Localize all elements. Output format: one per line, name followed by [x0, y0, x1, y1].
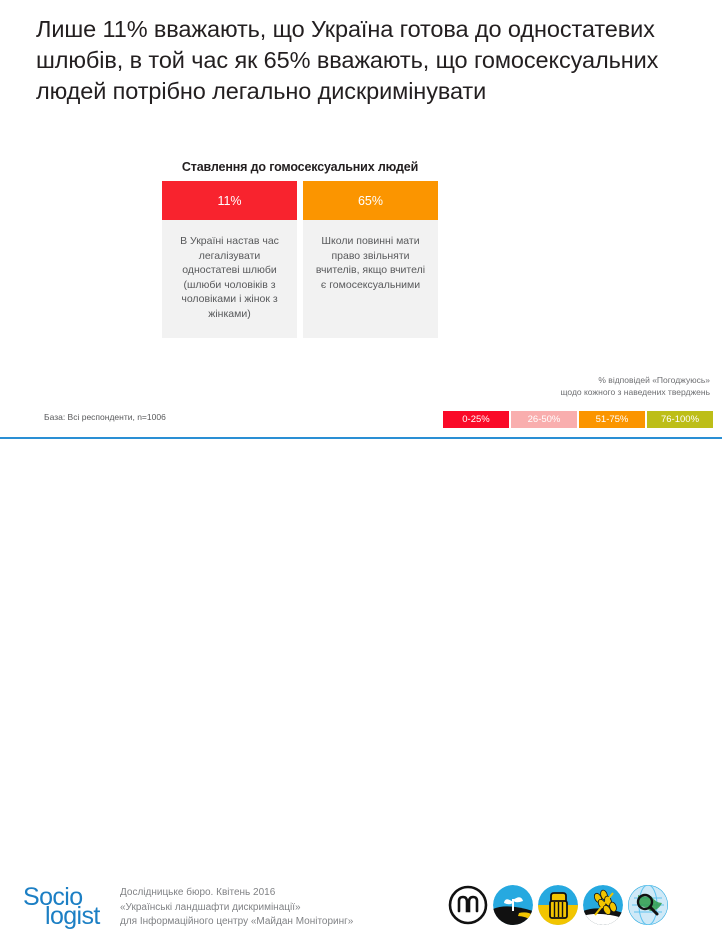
sprout-icon — [493, 885, 533, 925]
chart-table: 11% В Україні настав час легалізувати од… — [162, 181, 438, 338]
chart-note: % відповідей «Погоджуюсь» щодо кожного з… — [410, 374, 710, 398]
legend-item-76-100: 76-100% — [647, 411, 713, 428]
legend: 0-25% 26-50% 51-75% 76-100% — [443, 411, 713, 428]
footer-text: Дослідницьке бюро. Квітень 2016 «Українс… — [120, 886, 353, 930]
raised-fist-icon — [538, 885, 578, 925]
globe-magnifier-icon — [628, 885, 668, 925]
page-title: Лише 11% вважають, що Україна готова до … — [36, 14, 688, 107]
footer-text-line-1: Дослідницьке бюро. Квітень 2016 — [120, 886, 353, 901]
sociologist-logo: Socio logist — [23, 884, 127, 930]
m-monogram-icon — [448, 885, 488, 925]
legend-item-51-75: 51-75% — [579, 411, 645, 428]
chart-column-2: 65% Школи повинні мати право звільняти в… — [303, 181, 438, 338]
footer: Socio logist Дослідницьке бюро. Квітень … — [0, 439, 722, 513]
chart-container: Ставлення до гомосексуальних людей 11% В… — [162, 160, 438, 338]
footer-text-line-2: «Українські ландшафти дискримінації» — [120, 901, 353, 916]
chart-column-1: 11% В Україні настав час легалізувати од… — [162, 181, 297, 338]
base-note: База: Всі респонденти, n=1006 — [44, 412, 166, 422]
wheat-ears-icon — [583, 885, 623, 925]
chart-note-line-1: % відповідей «Погоджуюсь» — [410, 374, 710, 386]
logo-line-2: logist — [45, 905, 100, 928]
bar-value-1: 11% — [162, 181, 297, 220]
partner-logos — [448, 885, 668, 925]
bar-statement-2: Школи повинні мати право звільняти вчите… — [303, 220, 438, 338]
chart-title: Ставлення до гомосексуальних людей — [162, 160, 438, 174]
chart-note-line-2: щодо кожного з наведених тверджень — [410, 386, 710, 398]
bar-statement-1: В Україні настав час легалізувати одност… — [162, 220, 297, 338]
footer-text-line-3: для Інформаційного центру «Майдан Моніто… — [120, 915, 353, 930]
bar-value-2: 65% — [303, 181, 438, 220]
legend-item-26-50: 26-50% — [511, 411, 577, 428]
legend-item-0-25: 0-25% — [443, 411, 509, 428]
